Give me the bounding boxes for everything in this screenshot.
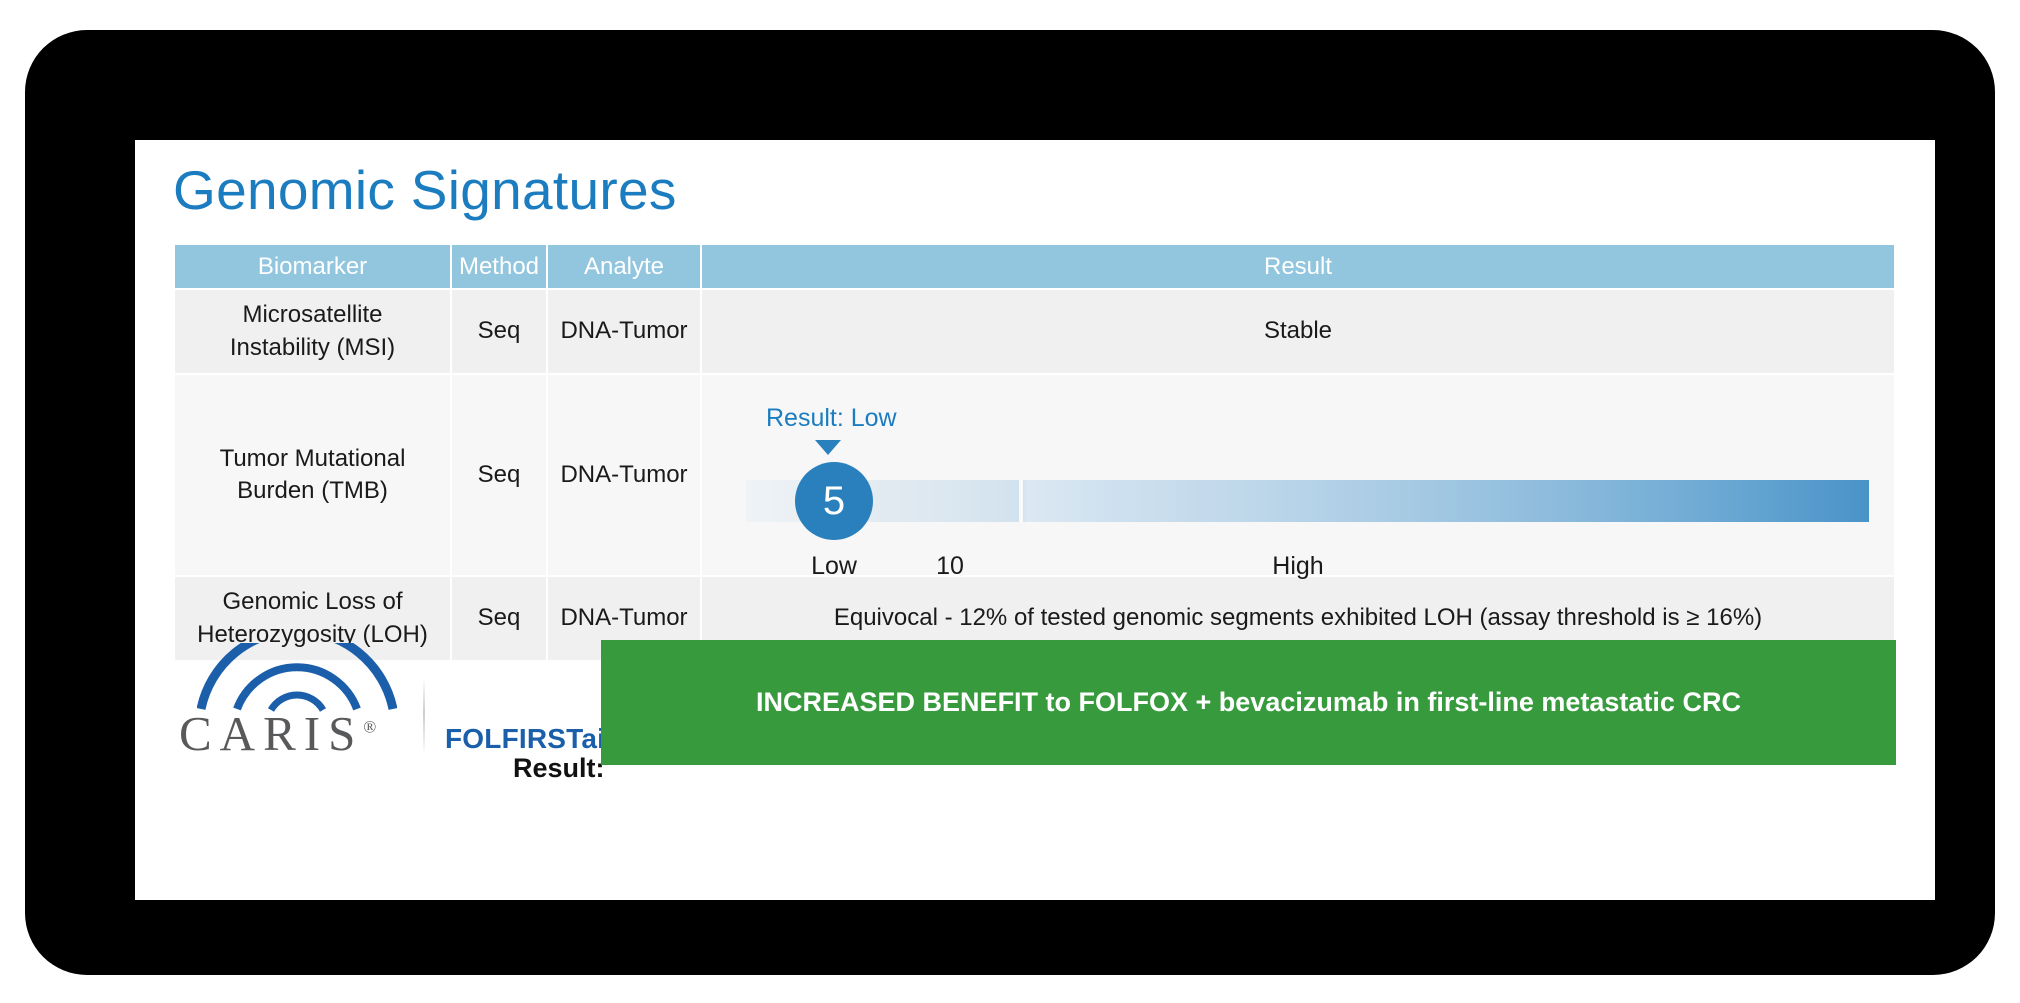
caris-wordmark: CARIS® [179, 705, 409, 762]
biomarker-line-2: Burden (TMB) [237, 477, 388, 504]
report-footer: CARIS® FOLFIRSTai Result: INCREASED BENE… [173, 640, 1896, 810]
table-header-row: Biomarker Method Analyte Result [175, 245, 1894, 288]
cell-biomarker-msi: Microsatellite Instability (MSI) [175, 290, 450, 373]
table-row: Tumor Mutational Burden (TMB) Seq DNA-Tu… [175, 375, 1894, 575]
column-header-result: Result [702, 245, 1894, 288]
biomarker-line-1: Tumor Mutational [220, 445, 406, 472]
cell-biomarker-tmb: Tumor Mutational Burden (TMB) [175, 375, 450, 575]
cell-analyte-tmb: DNA-Tumor [548, 375, 700, 575]
column-header-biomarker: Biomarker [175, 245, 450, 288]
registered-trademark-icon: ® [363, 718, 376, 737]
report-card: Genomic Signatures Biomarker Method Anal… [135, 140, 1935, 900]
tmb-value-marker: 5 [795, 462, 873, 540]
footer-result-label: Result: [513, 753, 605, 784]
biomarker-line-1: Genomic Loss of [222, 588, 402, 615]
caris-logo: CARIS® [179, 643, 449, 768]
tmb-threshold-tick [1019, 480, 1023, 522]
column-header-method: Method [452, 245, 546, 288]
tmb-result-label: Result: Low [766, 402, 897, 436]
column-header-analyte: Analyte [548, 245, 700, 288]
down-triangle-icon [815, 440, 841, 455]
biomarker-line-2: Instability (MSI) [230, 334, 395, 361]
cell-analyte-msi: DNA-Tumor [548, 290, 700, 373]
tmb-axis-label-mid: 10 [920, 550, 980, 584]
tmb-scale-chart: Result: Low 5 Low 10 High [702, 375, 1894, 575]
tmb-gradient-bar [746, 480, 1869, 522]
logo-divider [423, 678, 425, 756]
cell-method-tmb: Seq [452, 375, 546, 575]
caris-wordmark-text: CARIS [179, 706, 363, 761]
product-name-label: FOLFIRSTai [445, 723, 605, 755]
cell-method-msi: Seq [452, 290, 546, 373]
benefit-banner: INCREASED BENEFIT to FOLFOX + bevacizuma… [601, 640, 1896, 765]
device-frame: Genomic Signatures Biomarker Method Anal… [25, 30, 1995, 975]
page-title: Genomic Signatures [173, 158, 677, 222]
biomarker-line-1: Microsatellite [242, 301, 382, 328]
benefit-banner-text: INCREASED BENEFIT to FOLFOX + bevacizuma… [756, 687, 1741, 718]
tmb-axis-label-low: Low [794, 550, 874, 584]
genomic-signatures-table: Biomarker Method Analyte Result Microsat… [173, 243, 1896, 662]
table-row: Microsatellite Instability (MSI) Seq DNA… [175, 290, 1894, 373]
tmb-axis-label-high: High [1258, 550, 1338, 584]
caris-arcs-icon [197, 643, 397, 713]
cell-result-tmb: Result: Low 5 Low 10 High [702, 375, 1894, 575]
cell-result-msi: Stable [702, 290, 1894, 373]
